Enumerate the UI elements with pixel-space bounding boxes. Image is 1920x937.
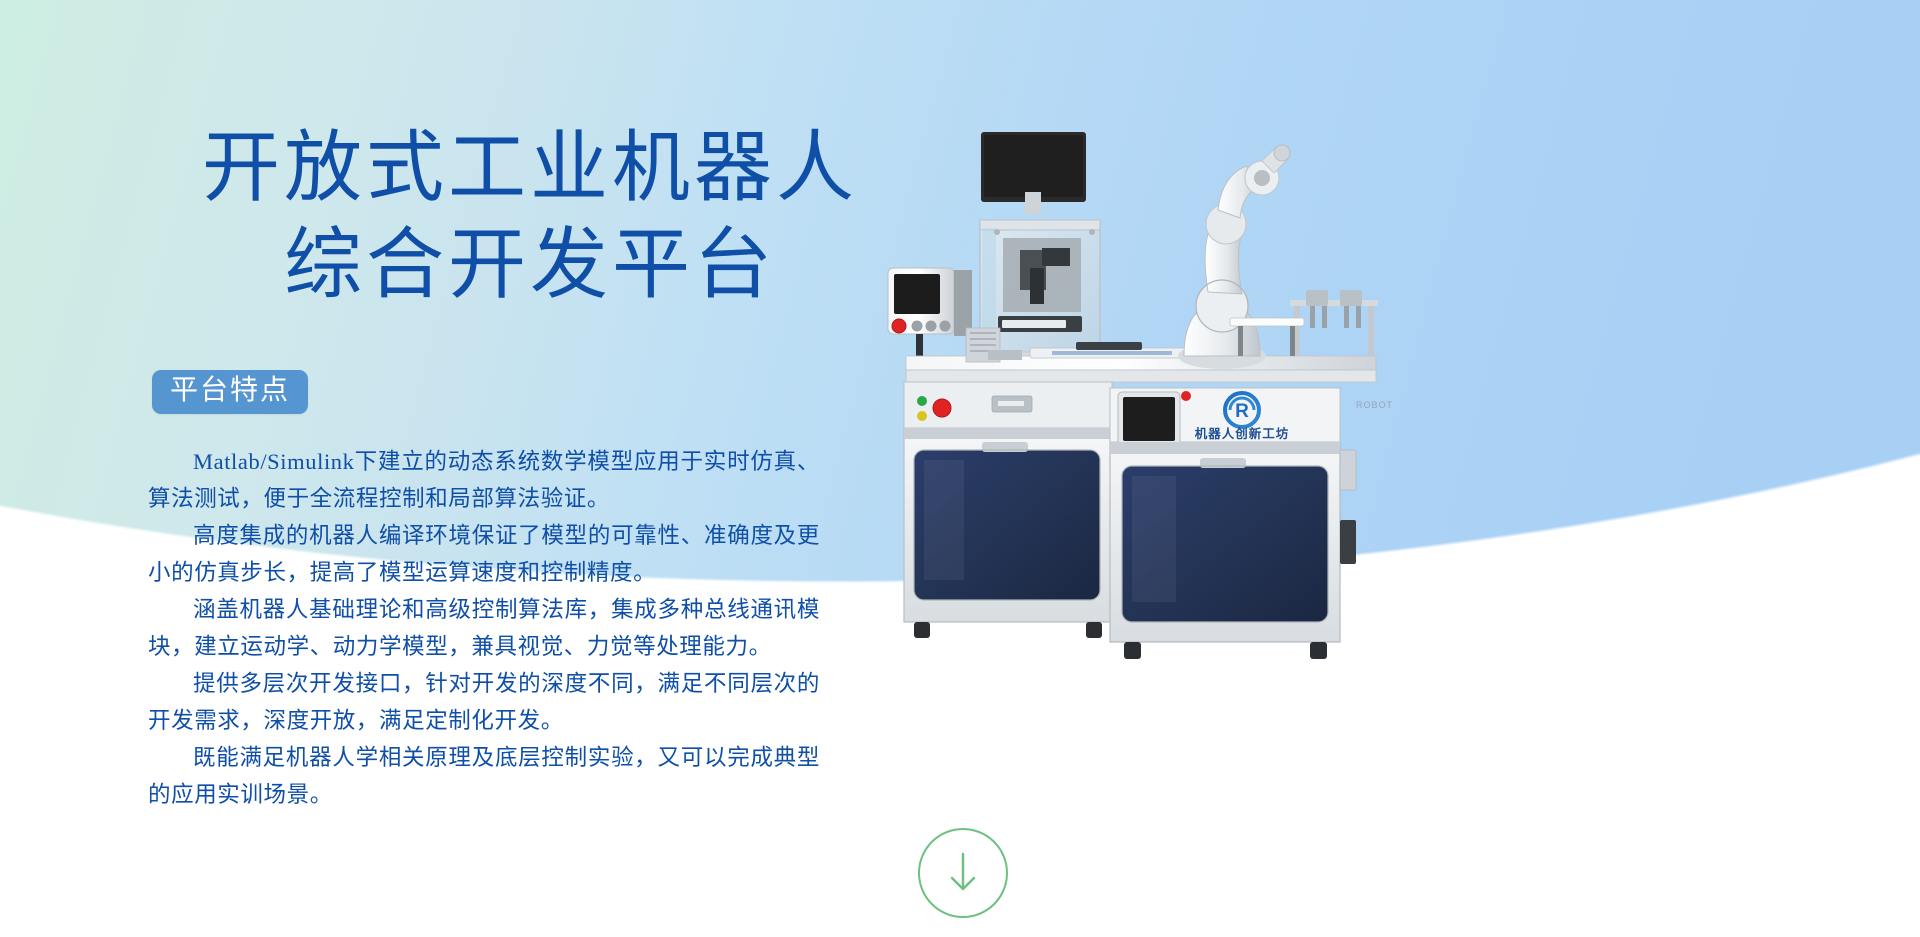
work-bench-top [906,328,1376,382]
arrow-down-icon [944,850,982,896]
feature-item: 高度集成的机器人编译环境保证了模型的可靠性、准确度及更小的仿真步长，提高了模型运… [148,517,820,591]
robot-arm [1178,145,1290,369]
side-mark-text: ROBOT [1356,400,1393,410]
page-title: 开放式工业机器人 综合开发平台 [150,120,910,313]
feature-list: Matlab/Simulink下建立的动态系统数学模型应用于实时仿真、算法测试，… [148,443,820,813]
feature-item: 既能满足机器人学相关原理及底层控制实验，又可以完成典型的应用实训场景。 [148,739,820,813]
status-badge: 平台特点 [152,370,308,414]
feature-item: Matlab/Simulink下建立的动态系统数学模型应用于实时仿真、算法测试，… [148,443,820,517]
svg-text:机器人创新工坊: 机器人创新工坊 [1195,426,1290,441]
main-cabinet: R 机器人创新工坊 ROBOT [904,382,1393,659]
enclosure-monitor [981,132,1086,214]
page-title-line-2: 综合开发平台 [150,217,910,314]
feature-item: 涵盖机器人基础理论和高级控制算法库，集成多种总线通讯模块，建立运动学、动力学模型… [148,591,820,665]
svg-text:R: R [1235,401,1249,422]
hero-banner: 开放式工业机器人 综合开发平台 平台特点 Matlab/Simulink下建立的… [0,0,1920,937]
product-image: R 机器人创新工坊 ROBOT [870,120,1510,780]
scroll-down-button[interactable] [918,828,1008,918]
page-title-line-1: 开放式工业机器人 [150,120,910,217]
feature-item: 提供多层次开发接口，针对开发的深度不同，满足不同层次的开发需求，深度开放，满足定… [148,665,820,739]
copy-column: 开放式工业机器人 综合开发平台 平台特点 Matlab/Simulink下建立的… [0,0,1000,937]
